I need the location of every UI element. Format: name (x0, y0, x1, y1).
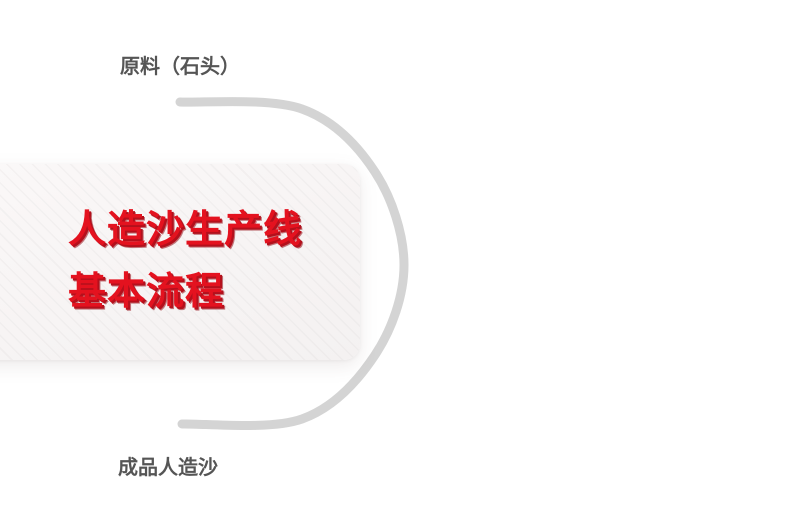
title-line-2: 基本流程 (68, 260, 338, 322)
end-caption-finished-sand: 成品人造沙 (118, 451, 218, 480)
title-text-block: 人造沙生产线 基本流程 (68, 198, 338, 322)
infographic-canvas: 人造沙生产线 基本流程 原料（石头） 成品人造沙 (0, 0, 800, 530)
title-card: 人造沙生产线 基本流程 (0, 164, 360, 360)
start-caption-raw-material: 原料（石头） (120, 50, 240, 79)
title-line-1: 人造沙生产线 (68, 198, 338, 260)
